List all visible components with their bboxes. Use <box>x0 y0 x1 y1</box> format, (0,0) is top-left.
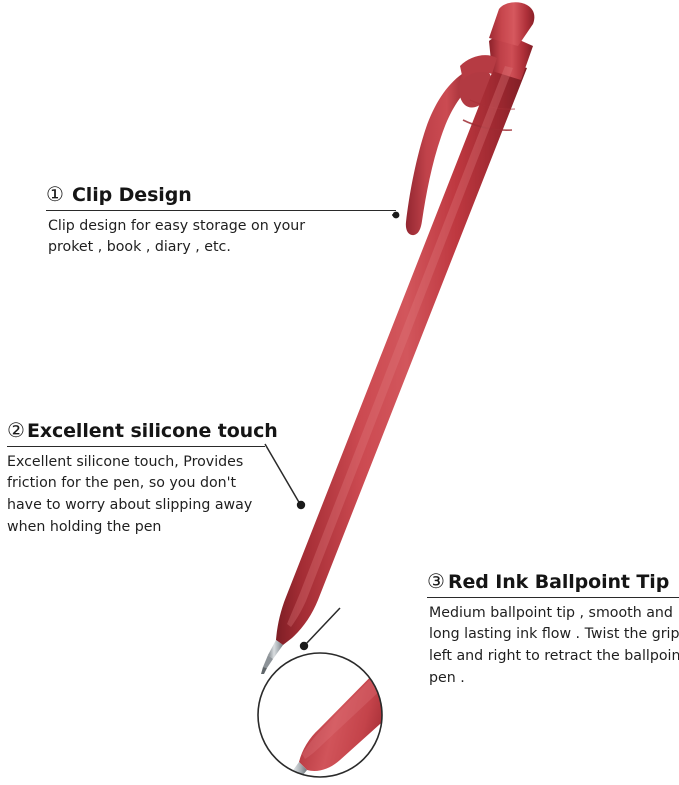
callout-2-body-line: friction for the pen, so you don't <box>7 473 265 495</box>
callout-3-body-line: long lasting ink flow . Twist the grip <box>429 624 679 646</box>
callout-3-header: ③ Red Ink Ballpoint Tip <box>427 571 679 593</box>
callout-3-body-line: pen . <box>429 668 679 690</box>
callout-1-rule <box>46 210 396 211</box>
callout-3-number: ③ <box>427 571 445 591</box>
callout-2-header: ② Excellent silicone touch <box>7 420 265 442</box>
callout-2-body-line: when holding the pen <box>7 517 265 539</box>
callout-3-rule <box>427 597 679 598</box>
callout-2-body-line: Excellent silicone touch, Provides <box>7 452 265 474</box>
callout-1-body-line: Clip design for easy storage on your <box>48 216 396 238</box>
callout-2-rule <box>7 446 265 447</box>
callout-2-title: Excellent silicone touch <box>27 421 278 442</box>
callout-1-number: ① <box>46 184 64 204</box>
callout-2-number: ② <box>7 420 25 440</box>
pen-highlight <box>287 66 513 627</box>
leader-dot-2 <box>297 501 305 509</box>
callout-clip-design: ① Clip Design Clip design for easy stora… <box>46 184 396 259</box>
tip-closeup-magnifier <box>258 653 418 785</box>
leader-line-2 <box>265 444 300 504</box>
callout-3-body-line: left and right to retract the ballpoint <box>429 646 679 668</box>
callout-1-title: Clip Design <box>72 185 192 206</box>
callout-1-body: Clip design for easy storage on your pro… <box>48 216 396 259</box>
callout-ballpoint-tip: ③ Red Ink Ballpoint Tip Medium ballpoint… <box>427 571 679 689</box>
product-infographic: ① Clip Design Clip design for easy stora… <box>0 0 679 785</box>
callout-2-body-line: have to worry about slipping away <box>7 495 265 517</box>
callout-1-header: ① Clip Design <box>46 184 396 206</box>
callout-3-body-line: Medium ballpoint tip , smooth and <box>429 603 679 625</box>
callout-1-body-line: proket , book , diary , etc. <box>48 237 396 259</box>
callout-2-body: Excellent silicone touch, Provides frict… <box>7 452 265 538</box>
leader-dot-3 <box>300 642 308 650</box>
callout-3-title: Red Ink Ballpoint Tip <box>448 572 669 593</box>
callout-silicone-touch: ② Excellent silicone touch Excellent sil… <box>7 420 265 538</box>
pen-plunger <box>489 2 534 46</box>
callout-3-body: Medium ballpoint tip , smooth and long l… <box>429 603 679 689</box>
